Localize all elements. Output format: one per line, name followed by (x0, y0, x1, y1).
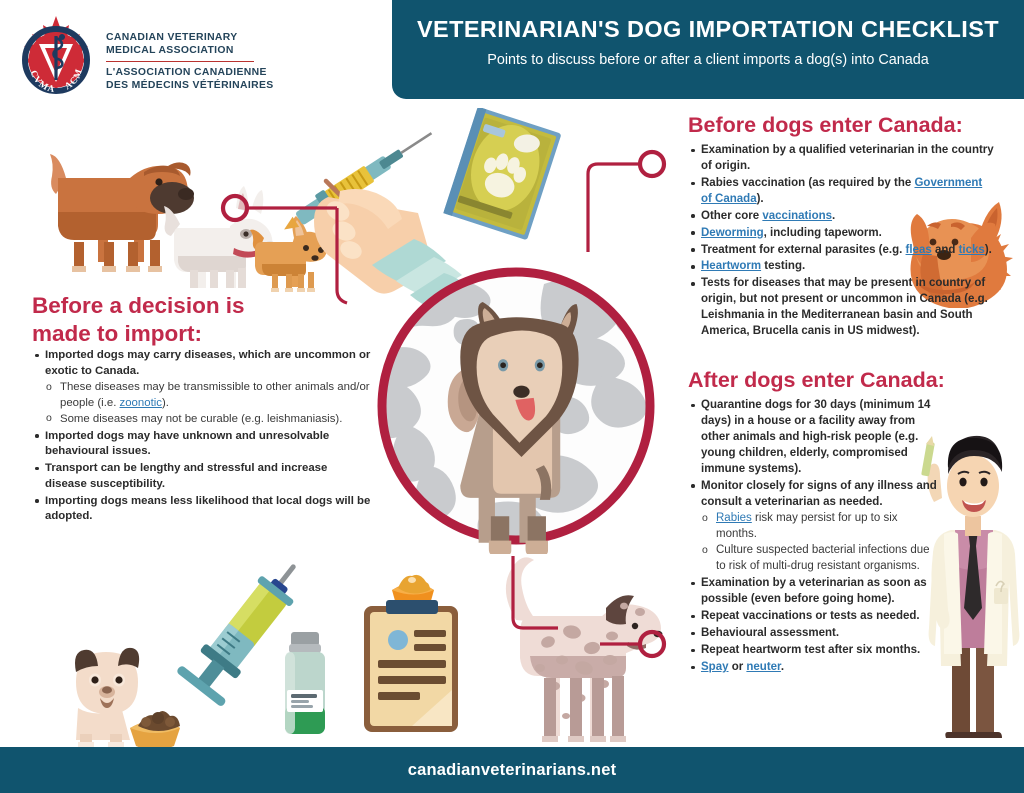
list-item: Deworming, including tapeworm. (688, 226, 994, 242)
website-url[interactable]: canadianveterinarians.net (408, 761, 617, 780)
before-item-3-link-0[interactable]: Deworming (701, 227, 764, 239)
list-item: Imported dogs may have unknown and unres… (32, 429, 372, 460)
before-item-4-link-1[interactable]: fleas (906, 244, 932, 256)
infographic-page: CVMA ACMV CANADIAN VETERINARY MEDICAL AS… (0, 0, 1024, 793)
after-item-6-text-1: or (729, 661, 747, 673)
before-item-6-text-0: Tests for diseases that may be present i… (701, 277, 988, 337)
vaccine-vial (273, 628, 337, 740)
footer-banner: canadianveterinarians.net (0, 747, 1024, 793)
list-item: Other core vaccinations. (688, 209, 994, 225)
decision-item-0-text: Imported dogs may carry diseases, which … (45, 349, 370, 377)
logo-name-en-line2: MEDICAL ASSOCIATION (106, 45, 356, 58)
connector-node-top-right (640, 152, 664, 176)
before-item-3-text-1: , including tapeworm. (764, 227, 882, 239)
before-item-2-link-1[interactable]: vaccinations (762, 210, 832, 222)
decision-heading-line2: made to import: (32, 321, 202, 346)
logo-name-en-line1: CANADIAN VETERINARY (106, 32, 356, 45)
decision-section-heading: Before a decision is made to import: (32, 292, 352, 348)
before-item-5-text-1: testing. (761, 260, 805, 272)
after-item-6-text-3: . (781, 661, 784, 673)
before-item-4-link-3[interactable]: ticks (959, 244, 985, 256)
list-subitem: These diseases may be transmissible to o… (45, 380, 372, 411)
cvma-logo: CVMA ACMV CANADIAN VETERINARY MEDICAL AS… (14, 10, 374, 102)
cvma-logo-mark-icon: CVMA ACMV (14, 12, 98, 98)
before-item-1-text-0: Rabies vaccination (as required by the (701, 177, 914, 189)
list-item: Rabies vaccination (as required by the G… (688, 176, 994, 208)
decision-item-3-text: Importing dogs means less likelihood tha… (45, 495, 370, 523)
decision-sub-1-pre: Some diseases may not be curable (e.g. l… (60, 413, 342, 425)
decision-sub-0-post: ). (162, 397, 169, 409)
decision-sub-0-pre: These diseases may be transmissible to o… (60, 381, 370, 409)
after-item-2-text-0: Examination by a veterinarian as soon as… (701, 577, 927, 605)
before-item-2-text-0: Other core (701, 210, 762, 222)
list-item: Heartworm testing. (688, 259, 994, 275)
after-item-4-text-0: Behavioural assessment. (701, 627, 839, 639)
before-item-4-text-0: Treatment for external parasites (e.g. (701, 244, 906, 256)
list-item: Monitor closely for signs of any illness… (688, 479, 940, 576)
cvma-logo-wordmark: CANADIAN VETERINARY MEDICAL ASSOCIATION … (106, 32, 356, 93)
after-list: Quarantine dogs for 30 days (minimum 14 … (688, 398, 940, 677)
dalmatian-dog (488, 556, 668, 746)
list-item: Transport can be lengthy and stressful a… (32, 461, 372, 492)
list-item: Imported dogs may carry diseases, which … (32, 348, 372, 428)
before-item-4-text-4: ). (985, 244, 992, 256)
after-item-5-text-0: Repeat heartworm test after six months. (701, 644, 920, 656)
after-item-0-text-0: Quarantine dogs for 30 days (minimum 14 … (701, 399, 930, 475)
list-item: Behavioural assessment. (688, 626, 940, 642)
list-item: Examination by a qualified veterinarian … (688, 143, 994, 175)
list-subitem: Rabies risk may persist for up to six mo… (701, 511, 940, 543)
clipboard-with-bowl (356, 568, 466, 740)
logo-divider (106, 61, 254, 62)
list-subitem: Culture suspected bacterial infections d… (701, 543, 940, 575)
after-item-6-link-2[interactable]: neuter (746, 661, 781, 673)
after-item-6-link-0[interactable]: Spay (701, 661, 729, 673)
before-item-0-text-0: Examination by a qualified veterinarian … (701, 144, 994, 172)
after-section-heading: After dogs enter Canada: (688, 368, 1008, 394)
globe-with-husky (368, 258, 664, 554)
zoonotic-link[interactable]: zoonotic (120, 397, 162, 409)
page-title: VETERINARIAN'S DOG IMPORTATION CHECKLIST (392, 17, 1024, 43)
after-item-1-sub-0-link-0[interactable]: Rabies (716, 512, 752, 524)
after-item-3-text-0: Repeat vaccinations or tests as needed. (701, 610, 920, 622)
before-item-5-link-0[interactable]: Heartworm (701, 260, 761, 272)
decision-list: Imported dogs may carry diseases, which … (32, 348, 372, 526)
list-item: Tests for diseases that may be present i… (688, 276, 994, 340)
list-item: Examination by a veterinarian as soon as… (688, 576, 940, 608)
list-item: Repeat vaccinations or tests as needed. (688, 609, 940, 625)
logo-name-fr-line2: DES MÉDECINS VÉTÉRINAIRES (106, 80, 356, 93)
after-item-1-sub-1-text-0: Culture suspected bacterial infections d… (716, 544, 930, 572)
list-item: Treatment for external parasites (e.g. f… (688, 243, 994, 259)
list-item: Quarantine dogs for 30 days (minimum 14 … (688, 398, 940, 478)
header-banner: VETERINARIAN'S DOG IMPORTATION CHECKLIST… (392, 0, 1024, 99)
list-item: Repeat heartworm test after six months. (688, 643, 940, 659)
vaccine-record-booklet (440, 108, 568, 243)
before-item-2-text-2: . (832, 210, 835, 222)
decision-item-1-text: Imported dogs may have unknown and unres… (45, 430, 329, 458)
list-subitem: Some diseases may not be curable (e.g. l… (45, 412, 372, 428)
before-item-1-text-2: ). (757, 193, 764, 205)
decision-heading-line1: Before a decision is (32, 293, 245, 318)
page-subtitle: Points to discuss before or after a clie… (392, 52, 1024, 69)
logo-name-fr-line1: L'ASSOCIATION CANADIENNE (106, 67, 356, 80)
before-list: Examination by a qualified veterinarian … (688, 143, 994, 341)
list-item: Importing dogs means less likelihood tha… (32, 494, 372, 525)
before-item-4-text-2: and (932, 244, 959, 256)
decision-item-2-text: Transport can be lengthy and stressful a… (45, 462, 327, 490)
before-section-heading: Before dogs enter Canada: (688, 113, 1008, 139)
list-item: Spay or neuter. (688, 660, 940, 676)
after-item-1-text-0: Monitor closely for signs of any illness… (701, 480, 937, 508)
